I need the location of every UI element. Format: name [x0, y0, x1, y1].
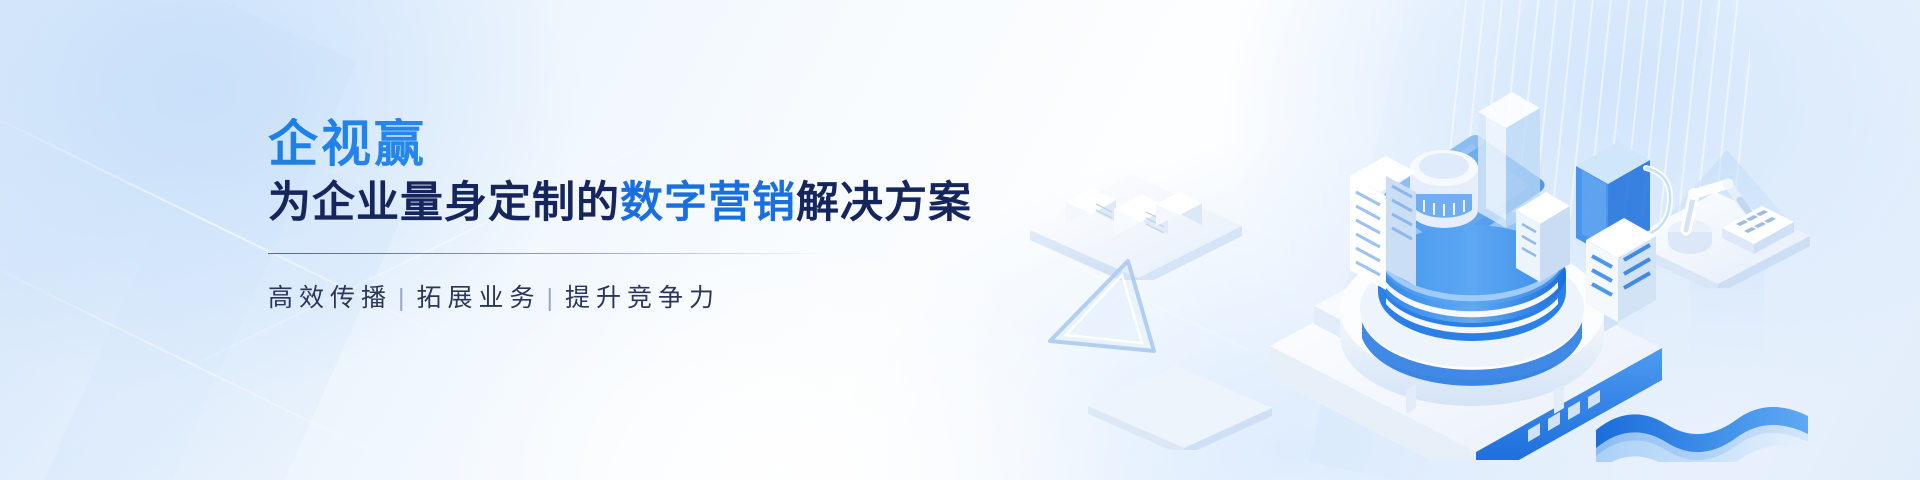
- headline-suffix: 解决方案: [796, 179, 972, 227]
- headline-highlight: 数字营销: [620, 179, 796, 227]
- wireframe-triangle: [1042, 255, 1162, 365]
- blue-ribbon: [1592, 352, 1812, 462]
- brand-name: 企视赢: [268, 118, 908, 171]
- tagline-item-3: 提升竞争力: [565, 284, 720, 312]
- tagline-separator: |: [541, 284, 566, 312]
- banner-copy: 企视赢 为企业量身定制的数字营销解决方案 高效传播|拓展业务|提升竞争力: [268, 118, 908, 314]
- tagline-item-1: 高效传播: [268, 284, 392, 312]
- headline: 为企业量身定制的数字营销解决方案: [268, 179, 908, 227]
- tagline: 高效传播|拓展业务|提升竞争力: [268, 278, 908, 314]
- divider: [268, 253, 828, 254]
- bottom-slab: [1080, 360, 1280, 450]
- tagline-item-2: 拓展业务: [417, 284, 541, 312]
- marketing-banner: 企视赢 为企业量身定制的数字营销解决方案 高效传播|拓展业务|提升竞争力: [0, 0, 1920, 480]
- headline-prefix: 为企业量身定制的: [268, 179, 620, 227]
- hero-illustration: [1060, 0, 1920, 480]
- tagline-separator: |: [392, 284, 417, 312]
